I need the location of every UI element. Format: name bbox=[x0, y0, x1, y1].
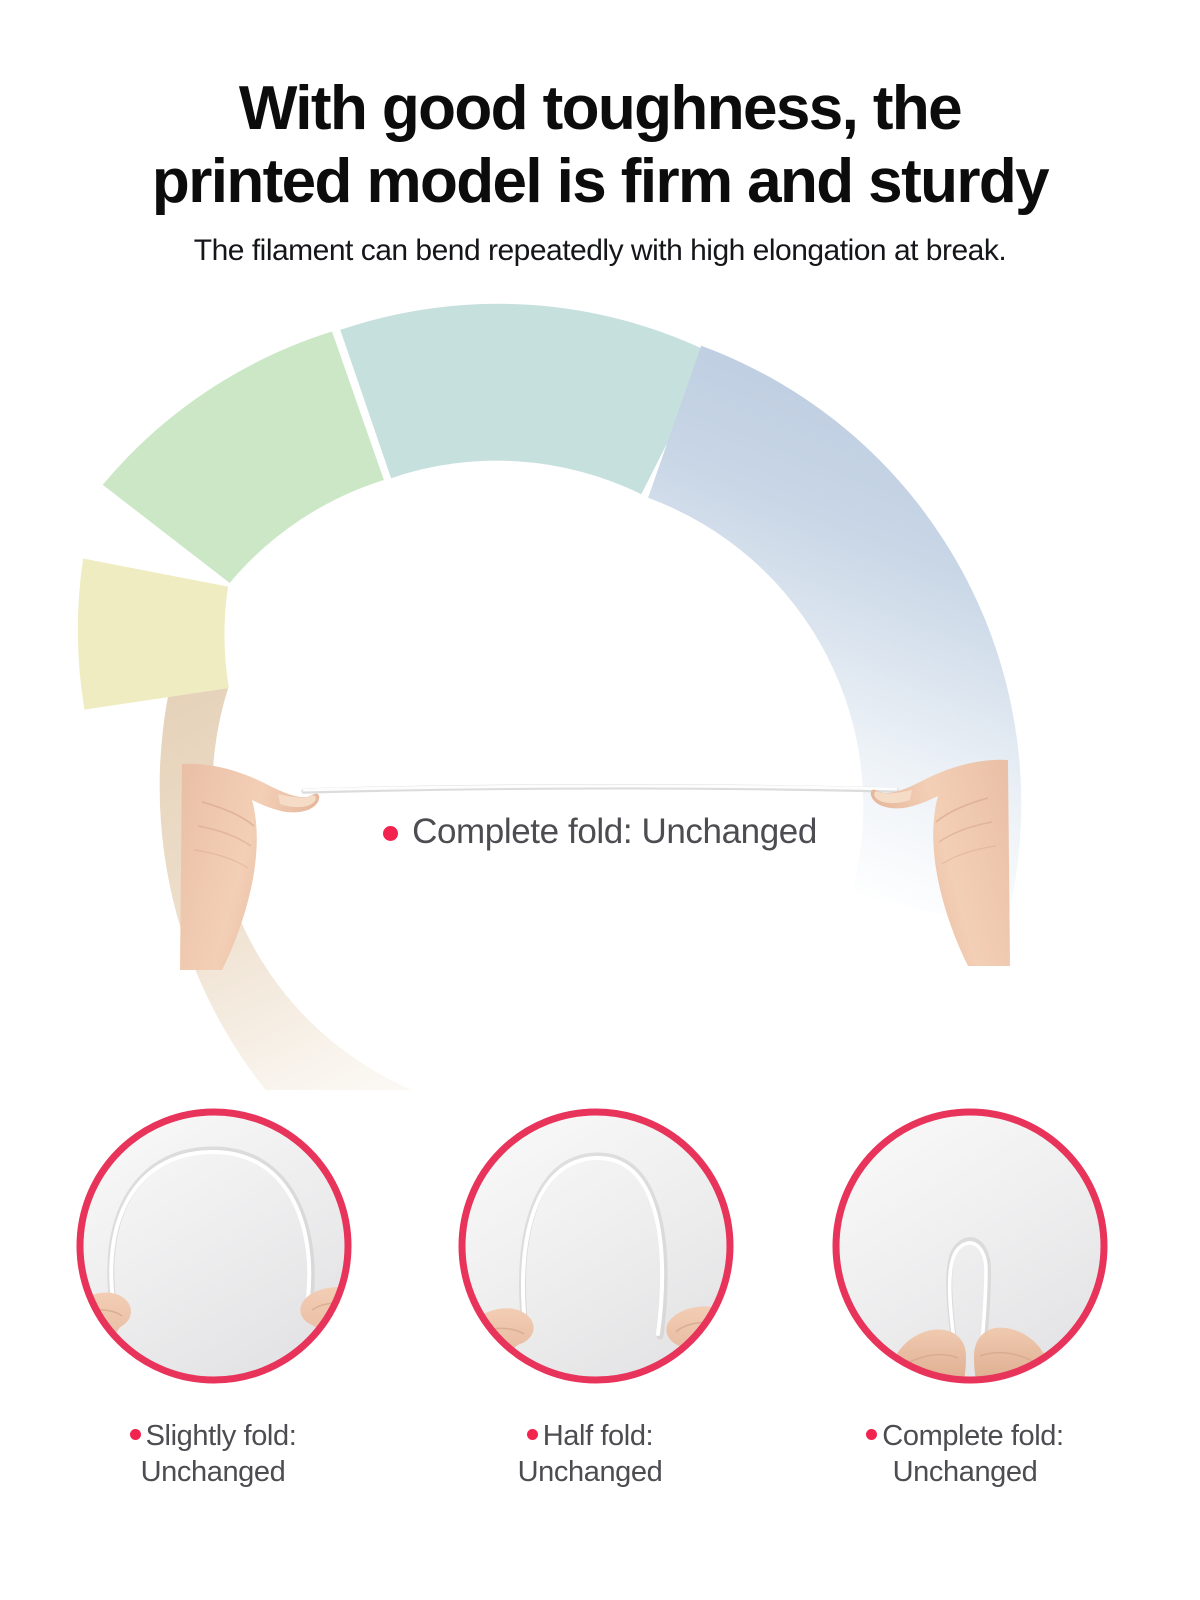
bullet-dot-icon bbox=[527, 1429, 538, 1440]
caption-title: Complete fold: bbox=[882, 1420, 1063, 1452]
caption-result: Unchanged bbox=[425, 1454, 755, 1490]
fold-stage-captions: Slightly fold: Unchanged Half fold: Unch… bbox=[0, 1418, 1200, 1528]
hand-right bbox=[862, 738, 1012, 968]
page-subtitle: The filament can bend repeatedly with hi… bbox=[55, 232, 1145, 270]
fold-photo-complete bbox=[828, 1104, 1112, 1388]
caption-half-fold: Half fold: Unchanged bbox=[425, 1418, 755, 1491]
bullet-dot-icon bbox=[130, 1429, 141, 1440]
arc-segment-pale-aqua bbox=[340, 304, 712, 494]
caption-result: Unchanged bbox=[48, 1454, 378, 1490]
fold-photo-slightly bbox=[72, 1104, 356, 1388]
caption-title-line: Half fold: bbox=[425, 1418, 755, 1454]
fold-stage-gallery bbox=[0, 1104, 1200, 1404]
bullet-dot-icon bbox=[866, 1429, 877, 1440]
arc-segment-pale-yellow bbox=[78, 559, 229, 710]
arc-diagram: Complete fold: Unchanged bbox=[0, 290, 1200, 1090]
caption-title: Slightly fold: bbox=[146, 1420, 297, 1452]
caption-complete-fold: Complete fold: Unchanged bbox=[800, 1418, 1130, 1491]
filament-strand bbox=[300, 782, 900, 796]
fold-photo-half bbox=[454, 1104, 738, 1388]
caption-slightly-fold: Slightly fold: Unchanged bbox=[48, 1418, 378, 1491]
page-title: With good toughness, the printed model i… bbox=[70, 72, 1130, 218]
caption-title-line: Complete fold: bbox=[800, 1418, 1130, 1454]
headline-line-1: With good toughness, the bbox=[239, 74, 961, 143]
arc-segment-mint-green bbox=[103, 332, 384, 584]
headline-line-2: printed model is firm and sturdy bbox=[70, 145, 1130, 218]
caption-title: Half fold: bbox=[543, 1420, 653, 1452]
hand-left bbox=[178, 742, 328, 972]
header: With good toughness, the printed model i… bbox=[0, 0, 1200, 270]
caption-result: Unchanged bbox=[800, 1454, 1130, 1490]
caption-title-line: Slightly fold: bbox=[48, 1418, 378, 1454]
